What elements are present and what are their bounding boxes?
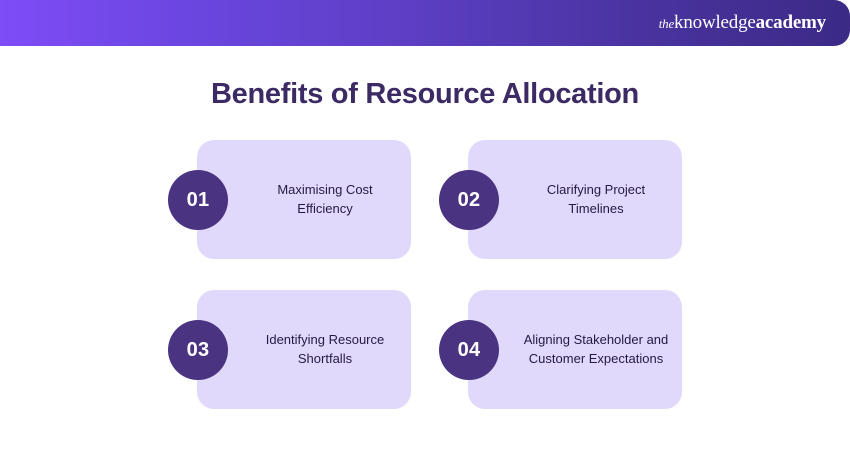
brand-logo-prefix: the <box>659 16 674 32</box>
benefits-card-grid: Maximising Cost Efficiency 01 Clarifying… <box>168 140 682 409</box>
benefit-card-03: Identifying Resource Shortfalls 03 <box>168 290 411 409</box>
brand-logo: theknowledgeacademy <box>659 12 826 34</box>
benefit-card-panel: Aligning Stakeholder and Customer Expect… <box>468 290 682 409</box>
benefit-card-04: Aligning Stakeholder and Customer Expect… <box>439 290 682 409</box>
benefit-card-label: Identifying Resource Shortfalls <box>249 331 401 369</box>
benefit-card-label: Aligning Stakeholder and Customer Expect… <box>520 331 672 369</box>
brand-logo-academy: academy <box>756 12 826 34</box>
benefit-card-panel: Identifying Resource Shortfalls <box>197 290 411 409</box>
benefit-card-02: Clarifying Project Timelines 02 <box>439 140 682 259</box>
benefit-card-number-badge: 03 <box>168 320 228 380</box>
benefit-card-panel: Clarifying Project Timelines <box>468 140 682 259</box>
benefit-card-number-badge: 04 <box>439 320 499 380</box>
benefit-card-label: Clarifying Project Timelines <box>520 181 672 219</box>
page-title: Benefits of Resource Allocation <box>0 78 850 111</box>
benefit-card-number-badge: 01 <box>168 170 228 230</box>
benefit-card-label: Maximising Cost Efficiency <box>249 181 401 219</box>
header-bar: theknowledgeacademy <box>0 0 850 46</box>
benefit-card-01: Maximising Cost Efficiency 01 <box>168 140 411 259</box>
benefit-card-number-badge: 02 <box>439 170 499 230</box>
brand-logo-knowledge: knowledge <box>674 12 756 34</box>
benefit-card-panel: Maximising Cost Efficiency <box>197 140 411 259</box>
